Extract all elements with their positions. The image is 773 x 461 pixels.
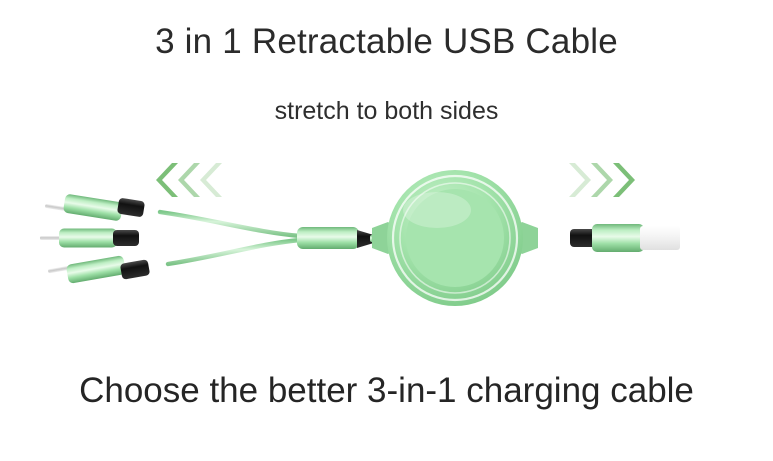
product-banner: 3 in 1 Retractable USB Cable stretch to … — [0, 0, 773, 461]
connector-left-middle — [40, 229, 139, 248]
retractable-usb-cable-image — [0, 150, 773, 325]
connector-right-usb — [570, 224, 680, 252]
subtitle: stretch to both sides — [0, 95, 773, 127]
connector-left-top — [45, 194, 145, 222]
connector-left-bottom — [48, 255, 150, 284]
page-title: 3 in 1 Retractable USB Cable — [0, 20, 773, 64]
cable-spool — [372, 170, 538, 306]
bottom-caption: Choose the better 3-in-1 charging cable — [0, 369, 773, 413]
left-cable-strands — [160, 212, 300, 264]
